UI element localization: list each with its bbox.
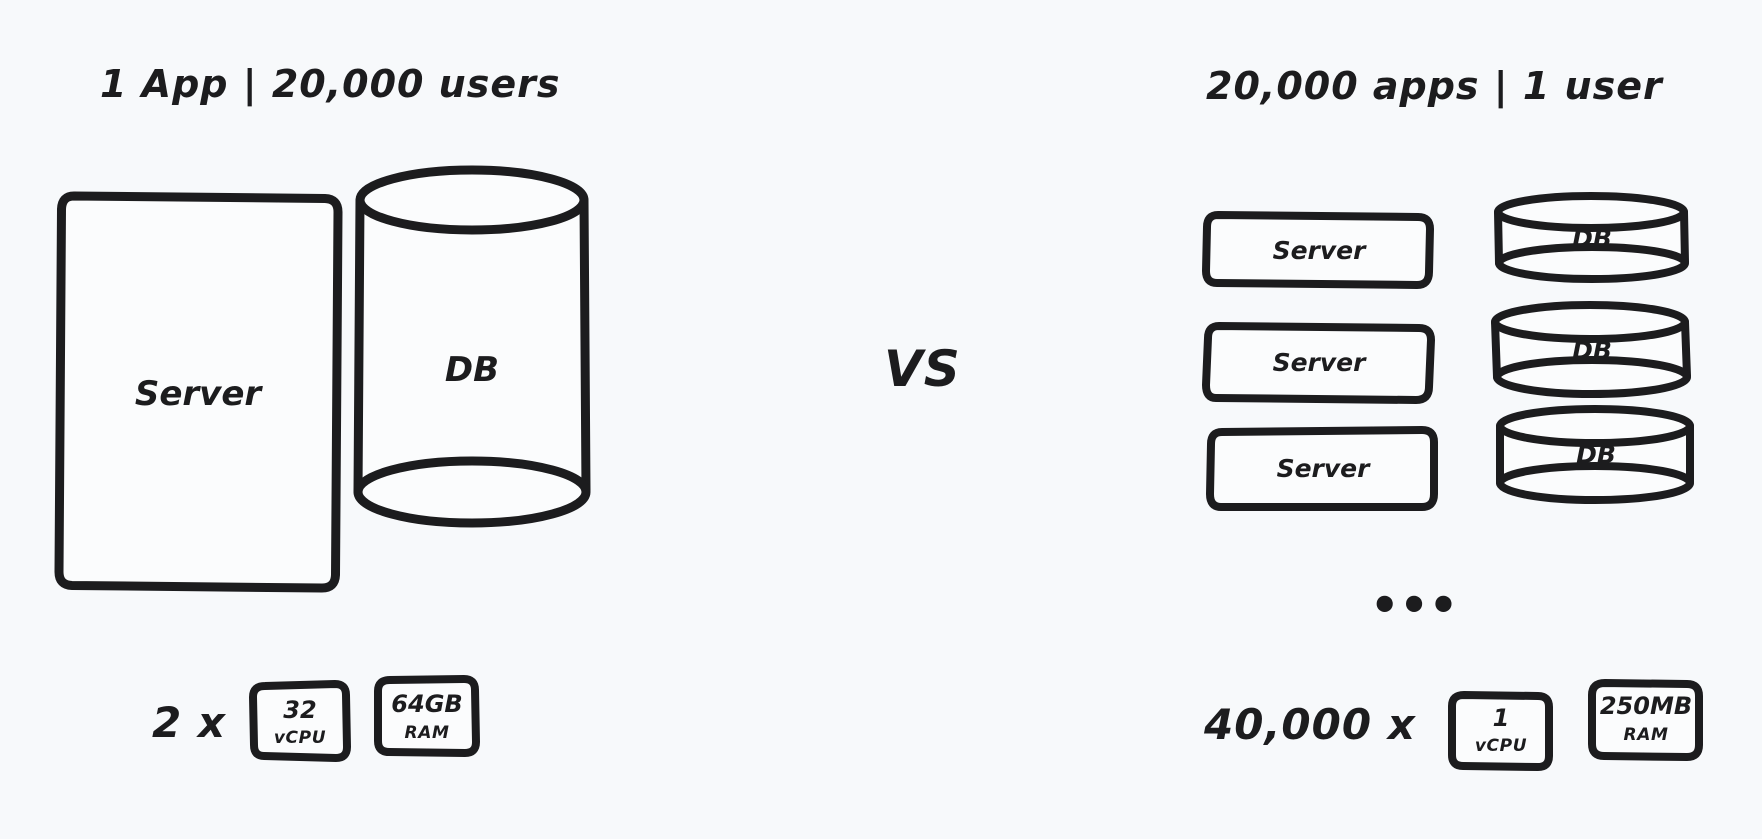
diagram-canvas: 1 App | 20,000 users Server DB (0, 0, 1762, 839)
right-spec-chip-vcpu: 1 vCPU (1446, 688, 1556, 774)
right-server-box-2: Server (1200, 320, 1438, 408)
continuation-ellipsis: ••• (1370, 596, 1440, 614)
right-database-cylinder-1: DB (1488, 188, 1696, 288)
left-multiplier: 2 x (152, 698, 226, 747)
right-panel-heading: 20,000 apps | 1 user (1206, 64, 1663, 108)
left-spec-chip-vcpu: 32 vCPU (248, 678, 352, 764)
right-server-box-1: Server (1200, 208, 1438, 294)
left-spec-chip-ram: 64GB RAM (372, 672, 482, 760)
right-database-cylinder-3: DB (1490, 400, 1702, 510)
right-database-cylinder-2: DB (1486, 296, 1698, 404)
right-server-box-3: Server (1204, 424, 1442, 516)
vs-divider-label: VS (884, 340, 961, 398)
right-multiplier: 40,000 x (1204, 700, 1416, 749)
right-spec-chip-ram: 250MB RAM (1586, 676, 1706, 764)
left-server-box: Server (50, 182, 346, 602)
left-panel-heading: 1 App | 20,000 users (100, 62, 561, 106)
left-database-cylinder: DB (348, 160, 596, 560)
